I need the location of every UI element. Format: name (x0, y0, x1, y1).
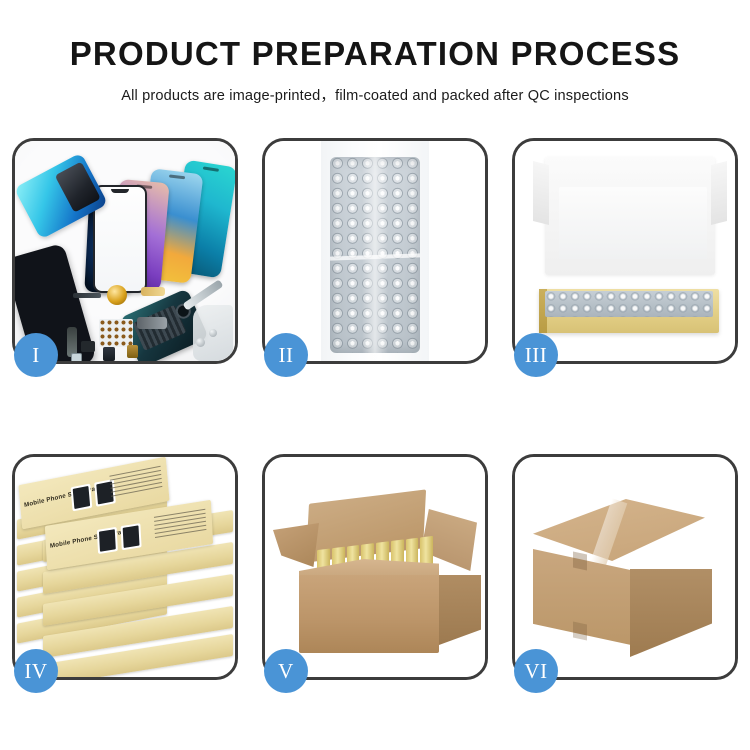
printed-spec-lines (109, 466, 163, 506)
step-badge-5: V (264, 649, 308, 693)
carton-flap-left (273, 523, 319, 567)
sealed-carton-side-face (630, 569, 712, 657)
step-panel-bubble-wrap-packing: II (262, 138, 488, 364)
page-header: PRODUCT PREPARATION PROCESS All products… (0, 0, 750, 105)
screen-notch (111, 189, 129, 193)
flex-cable-gray-part (137, 317, 167, 329)
step-badge-2: II (264, 333, 308, 377)
spec-line (155, 529, 206, 538)
step-panel-inner-box-packing: III (512, 138, 738, 364)
printed-screen-thumb (97, 527, 118, 554)
screw-part (209, 329, 217, 337)
foam-sheet (559, 187, 707, 259)
printed-screen-thumb (71, 484, 93, 512)
printed-screen-thumb (121, 523, 142, 550)
screw-tray-part (99, 319, 133, 347)
plastic-sheen (362, 141, 388, 361)
vibration-motor-part (107, 285, 127, 305)
phone-notch (203, 166, 219, 171)
step-image-carton-sealed (515, 457, 735, 677)
step-badge-3: III (514, 333, 558, 377)
carton-front-face (299, 575, 439, 653)
battery-part (103, 347, 115, 361)
printed-screen-fill (73, 486, 90, 509)
step-image-boxes-stacked: Mobile Phone Spare Parts (15, 457, 235, 677)
step-image-carton-filling (265, 457, 485, 677)
process-steps-grid: I II III (12, 138, 738, 680)
printed-spec-lines (154, 509, 207, 547)
step-image-bubble-wrap-packing (265, 141, 485, 361)
screw-part (196, 338, 205, 347)
box-brand-text: Mobile Phone Spare Parts (50, 527, 131, 550)
step-panel-boxes-stacked: Mobile Phone Spare Parts (12, 454, 238, 680)
speaker-mesh-part (73, 293, 101, 298)
step-panel-carton-filling: V (262, 454, 488, 680)
page-subtitle: All products are image-printed，film-coat… (0, 72, 750, 105)
camera-module-part (81, 341, 95, 352)
printed-screen-fill (123, 525, 140, 548)
step-badge-6: VI (514, 649, 558, 693)
page-title: PRODUCT PREPARATION PROCESS (0, 0, 750, 72)
chip-part (127, 345, 138, 358)
step-image-products-and-spare-parts (15, 141, 235, 361)
step-badge-1: I (14, 333, 58, 377)
printed-screen-fill (99, 529, 116, 552)
box-stack: Mobile Phone Spare Parts (15, 457, 235, 677)
carton-side-face (439, 575, 481, 645)
step-image-inner-box-packing (515, 141, 735, 361)
product-preparation-page: PRODUCT PREPARATION PROCESS All products… (0, 0, 750, 750)
background-glint (675, 482, 722, 510)
phone-notch (169, 174, 185, 179)
step-panel-carton-sealed: VI (512, 454, 738, 680)
lens-part (71, 353, 82, 361)
carton-seam (573, 552, 587, 571)
step-badge-4: IV (14, 649, 58, 693)
flex-cable-gold-part (141, 287, 165, 296)
carton-seam (573, 622, 587, 641)
bubble-wrapped-contents (545, 291, 713, 317)
step-panel-products-and-spare-parts: I (12, 138, 238, 364)
